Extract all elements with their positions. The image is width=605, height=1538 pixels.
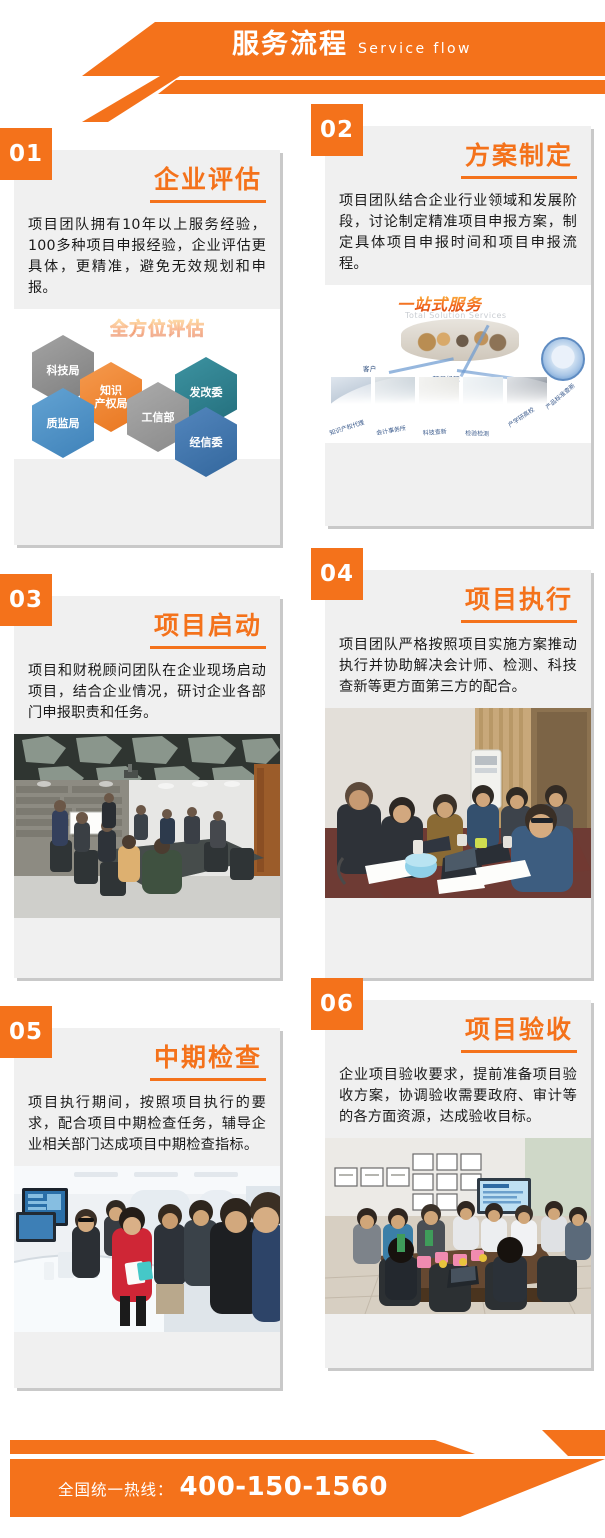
header-diagonal-accent [60,76,180,122]
step-body-05: 项目执行期间，按照项目执行的要求，配合项目中期检查任务，辅导企业相关部门达成项目… [14,1081,280,1166]
step-card-header-06: 项目验收 [325,1000,591,1053]
photo-large-conference-room-art [325,1138,591,1314]
step-title-04: 项目执行 [461,584,577,623]
step-number-badge-01: 01 [0,128,52,180]
step-card-header-04: 项目执行 [325,570,591,623]
footer-accent-line [10,1440,605,1454]
step-card-01[interactable]: 01 企业评估 项目团队拥有10年以上服务经验，100多种项目申报经验，企业评估… [14,150,280,545]
step-title-06: 项目验收 [461,1014,577,1053]
step-media-01: 全方位评估 科技局 知识 产权局 发改委 质监局 工信部 商务局 经信委 [14,309,280,467]
step-number-badge-05: 05 [0,1006,52,1058]
step-body-06: 企业项目验收要求，提前准备项目验收方案，协调验收需要政府、审计等的各方面资源，达… [325,1053,591,1138]
step-number-badge-03: 03 [0,574,52,626]
page-title-cn: 服务流程 [232,28,348,62]
step-title-01: 企业评估 [150,164,266,203]
step-title-02: 方案制定 [461,140,577,179]
photo-showroom-visit-art [14,1166,280,1332]
step-card-header-05: 中期检查 [14,1028,280,1081]
photo-showroom-visit [14,1166,280,1332]
step-body-01: 项目团队拥有10年以上服务经验，100多种项目申报经验，企业评估更具体，更精准，… [14,203,280,309]
step-body-03: 项目和财税顾问团队在企业现场启动项目，结合企业情况，研讨企业各部门申报职责和任务… [14,649,280,734]
header-band-secondary [0,80,605,94]
step-card-03[interactable]: 03 项目启动 项目和财税顾问团队在企业现场启动项目，结合企业情况，研讨企业各部… [14,596,280,978]
step-card-02[interactable]: 02 方案制定 项目团队结合企业行业领域和发展阶段，讨论制定精准项目申报方案，制… [325,126,591,526]
photo-conference-room-kickoff-art [14,734,280,918]
one-stop-service-infographic: 一站式服务 Total Solution Services 客户 项目经理 知识… [325,285,591,443]
step-title-05: 中期检查 [150,1042,266,1081]
step-media-06 [325,1138,591,1322]
step-card-04[interactable]: 04 项目执行 项目团队严格按照项目实施方案推动执行并协助解决会计师、检测、科技… [325,570,591,978]
hotline: 全国统一热线： 400-150-1560 [58,1472,388,1502]
branch-label-2: 科技查新 [422,426,447,437]
hexagon-infographic-title: 全方位评估 [110,315,205,341]
branch-label-3: 检验检测 [465,428,489,438]
photo-conference-room-kickoff [14,734,280,918]
hotline-number[interactable]: 400-150-1560 [180,1472,389,1502]
hotline-label: 全国统一热线： [58,1478,174,1500]
step-title-03: 项目启动 [150,610,266,649]
page-footer: 全国统一热线： 400-150-1560 [0,1400,605,1538]
step-card-06[interactable]: 06 项目验收 企业项目验收要求，提前准备项目验收方案，协调验收需要政府、审计等… [325,1000,591,1368]
hexagon-infographic: 全方位评估 科技局 知识 产权局 发改委 质监局 工信部 商务局 经信委 [14,309,280,459]
one-stop-service-hero-photo [401,319,519,361]
photo-meeting-laptops [325,708,591,898]
page-title-en: Service flow [358,39,472,59]
step-media-03 [14,734,280,926]
step-media-05 [14,1166,280,1340]
step-number-badge-04: 04 [311,548,363,600]
step-card-05[interactable]: 05 中期检查 项目执行期间，按照项目执行的要求，配合项目中期检查任务，辅导企业… [14,1028,280,1388]
page-header: 服务流程 Service flow [0,0,605,108]
photo-meeting-laptops-art [325,708,591,898]
service-flow-page: 服务流程 Service flow 01 企业评估 项目团队拥有10年以上服务经… [0,0,605,1538]
step-number-badge-06: 06 [311,978,363,1030]
step-card-header-02: 方案制定 [325,126,591,179]
step-card-header-01: 企业评估 [14,150,280,203]
step-card-header-03: 项目启动 [14,596,280,649]
step-body-04: 项目团队严格按照项目实施方案推动执行并协助解决会计师、检测、科技查新等更方面第三… [325,623,591,708]
step-media-04 [325,708,591,906]
flow-node-customer: 客户 [363,363,376,373]
page-title: 服务流程 Service flow [232,28,472,62]
step-number-badge-02: 02 [311,104,363,156]
photo-large-conference-room [325,1138,591,1314]
step-body-02: 项目团队结合企业行业领域和发展阶段，讨论制定精准项目申报方案，制定具体项目申报时… [325,179,591,285]
step-media-02: 一站式服务 Total Solution Services 客户 项目经理 知识… [325,285,591,451]
certification-seal-icon [541,337,585,381]
